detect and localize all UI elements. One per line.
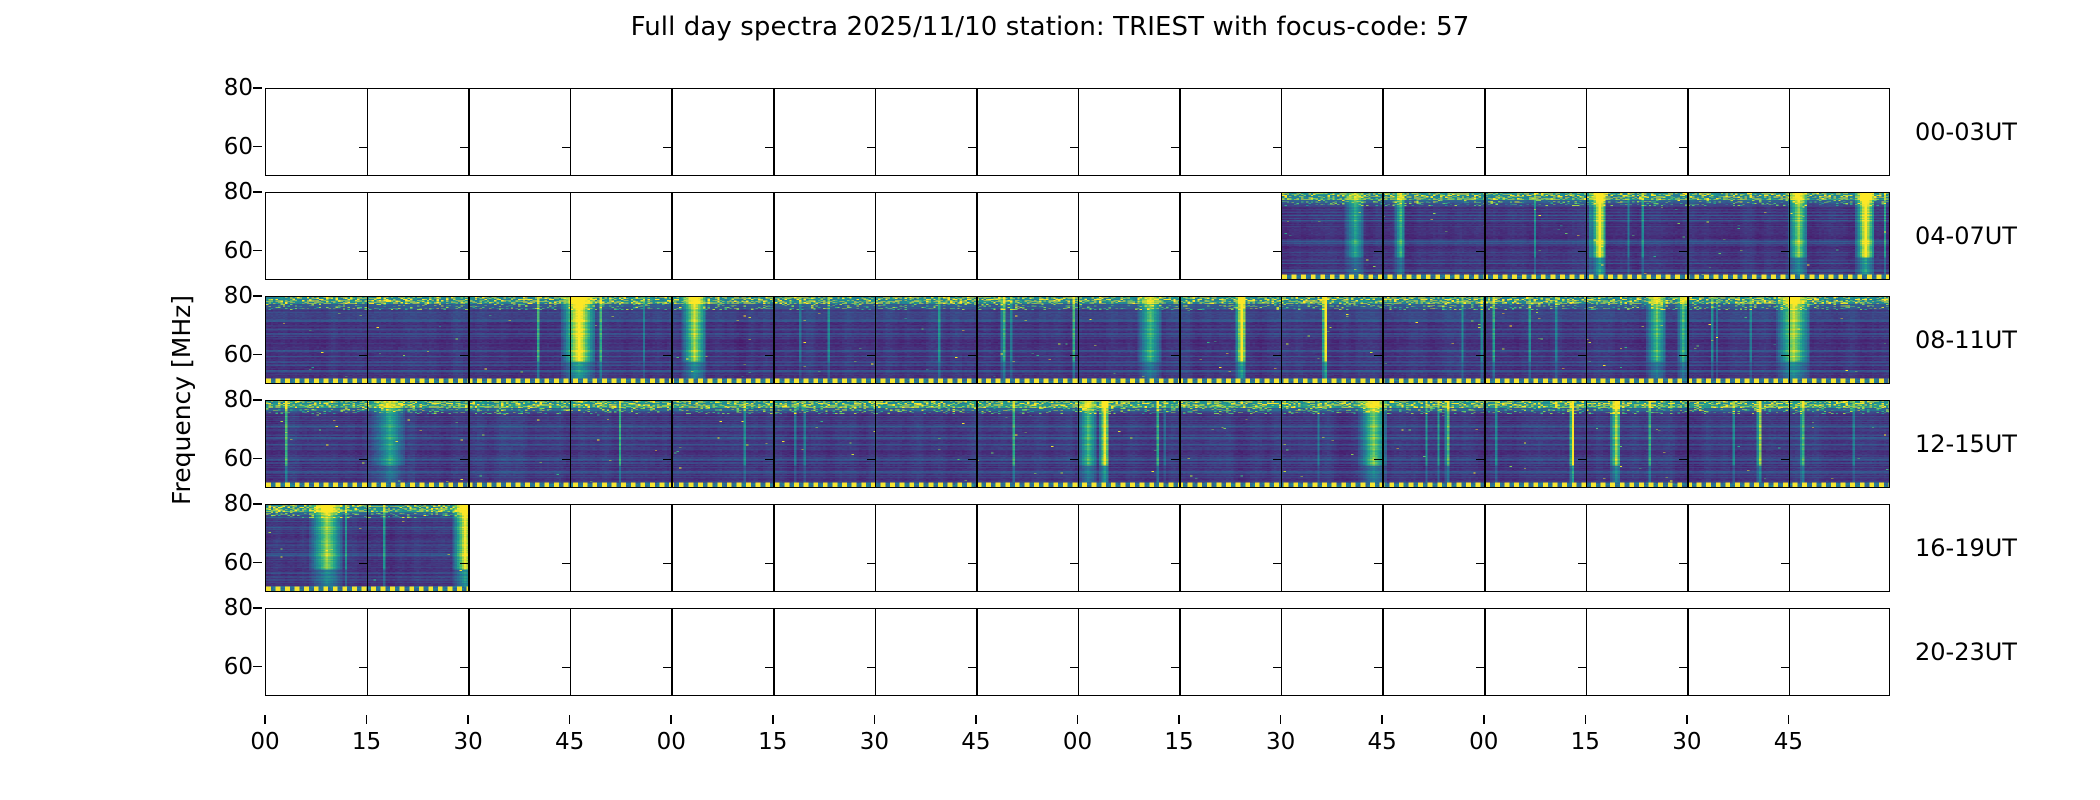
y-tick-label: 80 [193, 179, 253, 205]
inner-tick [1171, 251, 1179, 253]
x-tick-mark [366, 715, 368, 724]
y-tick-group: 8060 [191, 504, 253, 592]
inner-tick [968, 147, 976, 149]
inner-tick [1171, 147, 1179, 149]
inner-tick [1374, 667, 1382, 669]
inner-tick [1070, 459, 1078, 461]
x-tick-mark [670, 715, 672, 724]
grid-line [468, 609, 470, 695]
x-tick-mark [467, 715, 469, 724]
inner-tick [1679, 563, 1687, 565]
inner-tick [968, 355, 976, 357]
y-tick-label: 60 [193, 446, 253, 472]
grid-line [1687, 89, 1689, 175]
y-tick-mark [253, 295, 262, 297]
x-tick-label: 15 [758, 729, 787, 755]
grid-line [1281, 297, 1283, 383]
grid-line [1789, 505, 1791, 591]
grid-line [1382, 401, 1384, 487]
grid-line [875, 401, 877, 487]
grid-line [1586, 505, 1588, 591]
inner-tick [1273, 147, 1281, 149]
x-tick-label: 45 [1368, 729, 1397, 755]
inner-tick [1273, 251, 1281, 253]
inner-tick [1578, 667, 1586, 669]
grid-line [570, 505, 572, 591]
grid-line [1789, 401, 1791, 487]
grid-line [367, 401, 369, 487]
grid-line [570, 89, 572, 175]
inner-tick [1273, 563, 1281, 565]
inner-tick [1578, 563, 1586, 565]
inner-tick [1781, 459, 1789, 461]
grid-line [875, 505, 877, 591]
inner-tick [460, 563, 468, 565]
grid-line [976, 89, 978, 175]
x-tick-label: 30 [1266, 729, 1295, 755]
y-tick-mark [253, 354, 262, 356]
inner-tick [1578, 355, 1586, 357]
inner-tick [1374, 147, 1382, 149]
grid-line [1586, 89, 1588, 175]
grid-line [773, 297, 775, 383]
inner-tick [359, 563, 367, 565]
x-tick-mark [1077, 715, 1079, 724]
x-tick-mark [1381, 715, 1383, 724]
inner-tick [663, 667, 671, 669]
inner-tick [1679, 147, 1687, 149]
y-tick-mark [253, 146, 262, 148]
grid-line [1687, 401, 1689, 487]
row-label-08-11ut: 08-11UT [1915, 326, 2017, 354]
grid-line [671, 193, 673, 279]
inner-tick [1374, 355, 1382, 357]
inner-tick [1374, 459, 1382, 461]
inner-tick [359, 251, 367, 253]
grid-line [367, 193, 369, 279]
y-tick-group: 8060 [191, 400, 253, 488]
grid-line [1078, 505, 1080, 591]
inner-tick [968, 667, 976, 669]
inner-tick [359, 667, 367, 669]
y-tick-label: 60 [193, 654, 253, 680]
grid-line [773, 89, 775, 175]
row-label-12-15ut: 12-15UT [1915, 430, 2017, 458]
inner-tick [460, 147, 468, 149]
x-tick-label: 00 [1469, 729, 1498, 755]
x-tick-label: 30 [1672, 729, 1701, 755]
inner-tick [765, 563, 773, 565]
y-tick-mark [253, 666, 262, 668]
grid-line [773, 193, 775, 279]
inner-tick [968, 563, 976, 565]
inner-tick [765, 355, 773, 357]
inner-tick [765, 459, 773, 461]
grid-line [773, 505, 775, 591]
grid-line [1281, 505, 1283, 591]
inner-tick [1070, 355, 1078, 357]
x-tick-mark [1178, 715, 1180, 724]
grid-line [1789, 193, 1791, 279]
x-tick-label: 45 [1774, 729, 1803, 755]
inner-tick [1273, 667, 1281, 669]
inner-tick [562, 667, 570, 669]
inner-tick [359, 459, 367, 461]
y-tick-label: 80 [193, 75, 253, 101]
grid-line [1382, 297, 1384, 383]
inner-tick [1476, 147, 1484, 149]
y-tick-mark [253, 399, 262, 401]
inner-tick [663, 355, 671, 357]
row-label-00-03ut: 00-03UT [1915, 118, 2017, 146]
inner-tick [1476, 563, 1484, 565]
inner-tick [1171, 459, 1179, 461]
grid-line [976, 297, 978, 383]
grid-line [1789, 609, 1791, 695]
x-tick-label: 30 [860, 729, 889, 755]
y-tick-label: 60 [193, 342, 253, 368]
grid-line [1078, 297, 1080, 383]
plot-axes [265, 296, 1890, 384]
x-tick-label: 00 [657, 729, 686, 755]
x-tick-mark [1686, 715, 1688, 724]
y-tick-mark [253, 458, 262, 460]
y-tick-mark [253, 87, 262, 89]
x-tick-mark [1280, 715, 1282, 724]
inner-tick [867, 563, 875, 565]
grid-line [671, 401, 673, 487]
x-tick-mark [1585, 715, 1587, 724]
inner-tick [359, 355, 367, 357]
grid-line [1382, 89, 1384, 175]
y-tick-mark [253, 250, 262, 252]
inner-tick [1070, 563, 1078, 565]
x-tick-mark [1483, 715, 1485, 724]
x-tick-mark [975, 715, 977, 724]
inner-tick [663, 147, 671, 149]
grid-line [773, 609, 775, 695]
grid-line [367, 297, 369, 383]
inner-tick [1070, 667, 1078, 669]
spectrogram-row: 8060 [265, 400, 1890, 488]
grid-line [468, 193, 470, 279]
inner-tick [1781, 147, 1789, 149]
plot-axes [265, 504, 1890, 592]
grid-line [1484, 505, 1486, 591]
x-tick-label: 30 [453, 729, 482, 755]
row-label-16-19ut: 16-19UT [1915, 534, 2017, 562]
y-tick-group: 8060 [191, 88, 253, 176]
grid-line [1586, 401, 1588, 487]
inner-tick [1476, 355, 1484, 357]
grid-line [367, 89, 369, 175]
grid-line [1687, 193, 1689, 279]
plot-axes [265, 400, 1890, 488]
grid-line [976, 401, 978, 487]
inner-tick [968, 459, 976, 461]
grid-line [875, 89, 877, 175]
inner-tick [663, 563, 671, 565]
grid-line [1484, 297, 1486, 383]
grid-line [671, 89, 673, 175]
grid-line [1789, 297, 1791, 383]
inner-tick [1679, 459, 1687, 461]
row-label-04-07ut: 04-07UT [1915, 222, 2017, 250]
inner-tick [663, 459, 671, 461]
inner-tick [1781, 667, 1789, 669]
grid-line [468, 505, 470, 591]
inner-tick [1273, 459, 1281, 461]
inner-tick [460, 459, 468, 461]
y-tick-group: 8060 [191, 608, 253, 696]
grid-line [1586, 609, 1588, 695]
grid-line [570, 193, 572, 279]
y-tick-mark [253, 503, 262, 505]
spectrogram-row: 8060 [265, 296, 1890, 384]
grid-line [1281, 609, 1283, 695]
grid-line [1078, 609, 1080, 695]
y-tick-mark [253, 191, 262, 193]
grid-line [1382, 609, 1384, 695]
grid-line [1078, 89, 1080, 175]
plot-axes [265, 192, 1890, 280]
x-tick-label: 15 [1571, 729, 1600, 755]
inner-tick [562, 147, 570, 149]
grid-line [1586, 193, 1588, 279]
x-tick-label: 45 [961, 729, 990, 755]
inner-tick [1476, 667, 1484, 669]
x-tick-label: 15 [352, 729, 381, 755]
grid-line [1179, 89, 1181, 175]
grid-line [671, 505, 673, 591]
grid-line [1179, 297, 1181, 383]
grid-line [671, 297, 673, 383]
grid-line [1687, 609, 1689, 695]
y-tick-label: 60 [193, 550, 253, 576]
grid-line [468, 89, 470, 175]
inner-tick [968, 251, 976, 253]
spectrogram-row: 8060 [265, 192, 1890, 280]
inner-tick [1070, 251, 1078, 253]
inner-tick [1476, 251, 1484, 253]
plot-axes [265, 88, 1890, 176]
y-tick-label: 60 [193, 238, 253, 264]
grid-line [1789, 89, 1791, 175]
x-tick-mark [569, 715, 571, 724]
grid-line [1484, 609, 1486, 695]
inner-tick [1578, 459, 1586, 461]
grid-line [570, 609, 572, 695]
x-tick-label: 45 [555, 729, 584, 755]
y-tick-label: 80 [193, 595, 253, 621]
row-label-20-23ut: 20-23UT [1915, 638, 2017, 666]
grid-line [976, 193, 978, 279]
plot-axes [265, 608, 1890, 696]
grid-line [1179, 505, 1181, 591]
y-tick-group: 8060 [191, 296, 253, 384]
grid-line [1382, 505, 1384, 591]
grid-line [1687, 505, 1689, 591]
grid-line [1586, 297, 1588, 383]
x-tick-mark [264, 715, 266, 724]
y-tick-label: 60 [193, 134, 253, 160]
inner-tick [1578, 251, 1586, 253]
grid-line [1078, 193, 1080, 279]
inner-tick [867, 147, 875, 149]
inner-tick [562, 563, 570, 565]
grid-line [1484, 89, 1486, 175]
inner-tick [1781, 355, 1789, 357]
inner-tick [460, 251, 468, 253]
grid-line [671, 609, 673, 695]
inner-tick [1070, 147, 1078, 149]
grid-line [976, 505, 978, 591]
grid-line [1179, 193, 1181, 279]
inner-tick [1679, 251, 1687, 253]
inner-tick [1476, 459, 1484, 461]
inner-tick [867, 251, 875, 253]
grid-line [1484, 193, 1486, 279]
grid-line [1179, 609, 1181, 695]
grid-line [1382, 193, 1384, 279]
inner-tick [867, 459, 875, 461]
inner-tick [867, 667, 875, 669]
inner-tick [1171, 355, 1179, 357]
inner-tick [867, 355, 875, 357]
grid-line [570, 401, 572, 487]
inner-tick [1578, 147, 1586, 149]
y-tick-mark [253, 607, 262, 609]
grid-line [1179, 401, 1181, 487]
y-tick-group: 8060 [191, 192, 253, 280]
spectrogram-row: 8060 [265, 504, 1890, 592]
spectrogram-row: 8060 [265, 608, 1890, 696]
x-tick-label: 00 [1063, 729, 1092, 755]
x-tick-label: 00 [250, 729, 279, 755]
inner-tick [1171, 563, 1179, 565]
inner-tick [562, 459, 570, 461]
grid-line [1281, 89, 1283, 175]
inner-tick [460, 355, 468, 357]
inner-tick [1781, 251, 1789, 253]
inner-tick [1374, 563, 1382, 565]
grid-line [468, 297, 470, 383]
y-tick-label: 80 [193, 491, 253, 517]
grid-line [773, 401, 775, 487]
inner-tick [1679, 355, 1687, 357]
spectrogram-row: 8060 [265, 88, 1890, 176]
grid-line [875, 609, 877, 695]
inner-tick [1273, 355, 1281, 357]
inner-tick [765, 667, 773, 669]
x-axis: 00153045001530450015304500153045 [265, 715, 1890, 775]
x-tick-mark [1788, 715, 1790, 724]
inner-tick [460, 667, 468, 669]
grid-line [875, 297, 877, 383]
inner-tick [359, 147, 367, 149]
grid-line [1281, 401, 1283, 487]
inner-tick [1374, 251, 1382, 253]
figure-canvas: Full day spectra 2025/11/10 station: TRI… [0, 0, 2100, 800]
grid-line [367, 505, 369, 591]
x-tick-label: 15 [1164, 729, 1193, 755]
grid-line [1687, 297, 1689, 383]
page-title: Full day spectra 2025/11/10 station: TRI… [0, 12, 2100, 42]
grid-line [367, 609, 369, 695]
inner-tick [562, 251, 570, 253]
grid-line [875, 193, 877, 279]
grid-line [1281, 193, 1283, 279]
x-tick-mark [772, 715, 774, 724]
y-tick-label: 80 [193, 283, 253, 309]
inner-tick [663, 251, 671, 253]
inner-tick [1781, 563, 1789, 565]
grid-line [468, 401, 470, 487]
y-tick-mark [253, 562, 262, 564]
grid-line [1484, 401, 1486, 487]
x-tick-mark [874, 715, 876, 724]
inner-tick [562, 355, 570, 357]
grid-line [976, 609, 978, 695]
inner-tick [1171, 667, 1179, 669]
inner-tick [765, 147, 773, 149]
inner-tick [765, 251, 773, 253]
grid-line [1078, 401, 1080, 487]
inner-tick [1679, 667, 1687, 669]
grid-line [570, 297, 572, 383]
y-tick-label: 80 [193, 387, 253, 413]
